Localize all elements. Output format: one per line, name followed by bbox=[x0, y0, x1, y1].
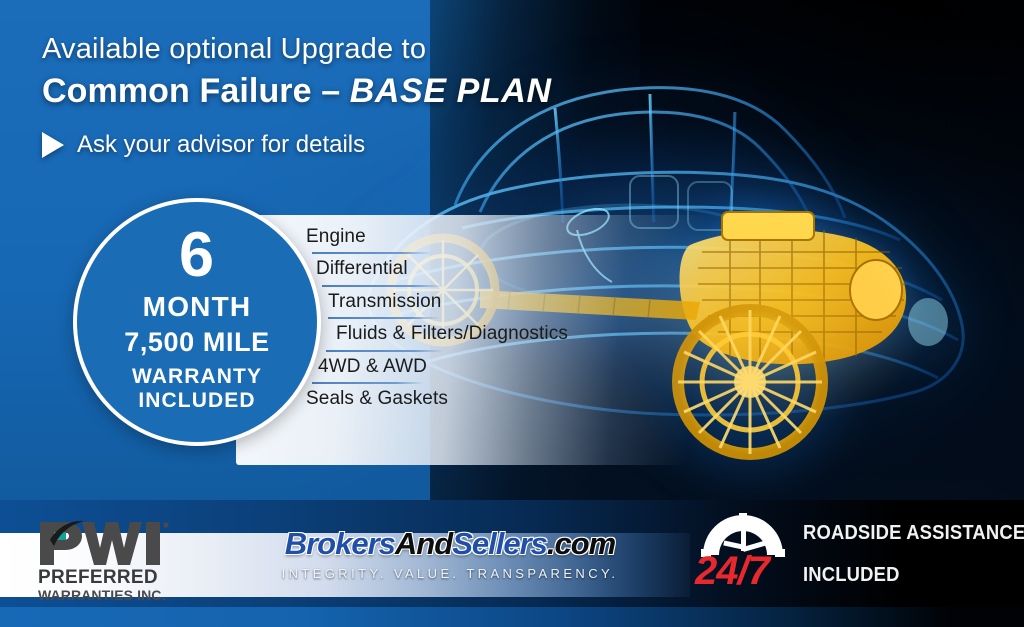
brokers-part-4: .com bbox=[547, 526, 615, 561]
list-item: Transmission bbox=[306, 291, 706, 319]
list-item: 4WD & AWD bbox=[306, 356, 706, 384]
badge-included-label: INCLUDED bbox=[138, 389, 255, 413]
headline-line-2: Common Failure – BASE PLAN bbox=[42, 72, 642, 111]
coverage-item-label: Seals & Gaskets bbox=[306, 388, 706, 410]
pwi-wordmark bbox=[38, 520, 183, 567]
coverage-item-label: Fluids & Filters/Diagnostics bbox=[336, 323, 706, 345]
headline-line-1: Available optional Upgrade to bbox=[42, 32, 642, 66]
headline-prefix: Common Failure – bbox=[42, 72, 350, 110]
cta-row: Ask your advisor for details bbox=[42, 131, 642, 159]
list-item: Seals & Gaskets bbox=[306, 388, 706, 410]
roadside-hours: 24/7 bbox=[695, 554, 789, 588]
brokers-part-1: Brokers bbox=[285, 526, 395, 561]
list-item: Engine bbox=[306, 226, 706, 254]
footer-bottom-strip bbox=[0, 607, 1024, 627]
badge-term-unit: MONTH bbox=[143, 293, 252, 321]
divider bbox=[328, 317, 440, 319]
cta-label: Ask your advisor for details bbox=[77, 131, 365, 159]
divider bbox=[326, 350, 444, 352]
warranty-promo-banner: Available optional Upgrade to Common Fai… bbox=[0, 0, 1024, 627]
coverage-list: Engine Differential Transmission Fluids … bbox=[306, 226, 706, 412]
badge-mileage: 7,500 MILE bbox=[124, 329, 270, 356]
roadside-assistance-block: 24/7 ROADSIDE ASSISTANCE INCLUDED bbox=[697, 505, 1024, 588]
badge-term-number: 6 bbox=[179, 226, 215, 286]
pwi-logo: PREFERRED WARRANTIES INC. bbox=[38, 520, 183, 603]
brokers-and-sellers-logo: BrokersAndSellers.com INTEGRITY. VALUE. … bbox=[250, 528, 650, 581]
coverage-item-label: Transmission bbox=[328, 291, 706, 313]
roadside-icon-group: 24/7 bbox=[697, 505, 789, 588]
brokers-wordmark: BrokersAndSellers.com bbox=[250, 528, 650, 559]
warranty-badge: 6 MONTH 7,500 MILE WARRANTY INCLUDED bbox=[73, 198, 321, 446]
pwi-line-2: WARRANTIES INC. bbox=[38, 588, 183, 603]
brokers-tagline: INTEGRITY. VALUE. TRANSPARENCY. bbox=[250, 566, 650, 581]
badge-warranty-label: WARRANTY bbox=[132, 365, 262, 389]
divider bbox=[312, 382, 424, 384]
brokers-part-3: Sellers bbox=[452, 526, 547, 561]
roadside-line-2: INCLUDED bbox=[803, 565, 1024, 585]
list-item: Differential bbox=[306, 258, 706, 286]
play-triangle-icon bbox=[42, 132, 64, 158]
list-item: Fluids & Filters/Diagnostics bbox=[306, 323, 706, 351]
coverage-item-label: Engine bbox=[306, 226, 706, 248]
coverage-item-label: Differential bbox=[316, 258, 706, 280]
roadside-line-1: ROADSIDE ASSISTANCE bbox=[803, 523, 1024, 543]
divider bbox=[322, 285, 444, 287]
headline-block: Available optional Upgrade to Common Fai… bbox=[42, 32, 642, 159]
divider bbox=[312, 252, 432, 254]
roadside-text-group: ROADSIDE ASSISTANCE INCLUDED bbox=[803, 505, 1024, 585]
headline-plan-name: BASE PLAN bbox=[350, 72, 552, 110]
pwi-line-1: PREFERRED bbox=[38, 568, 183, 588]
brokers-part-2: And bbox=[395, 526, 452, 561]
coverage-item-label: 4WD & AWD bbox=[318, 356, 706, 378]
